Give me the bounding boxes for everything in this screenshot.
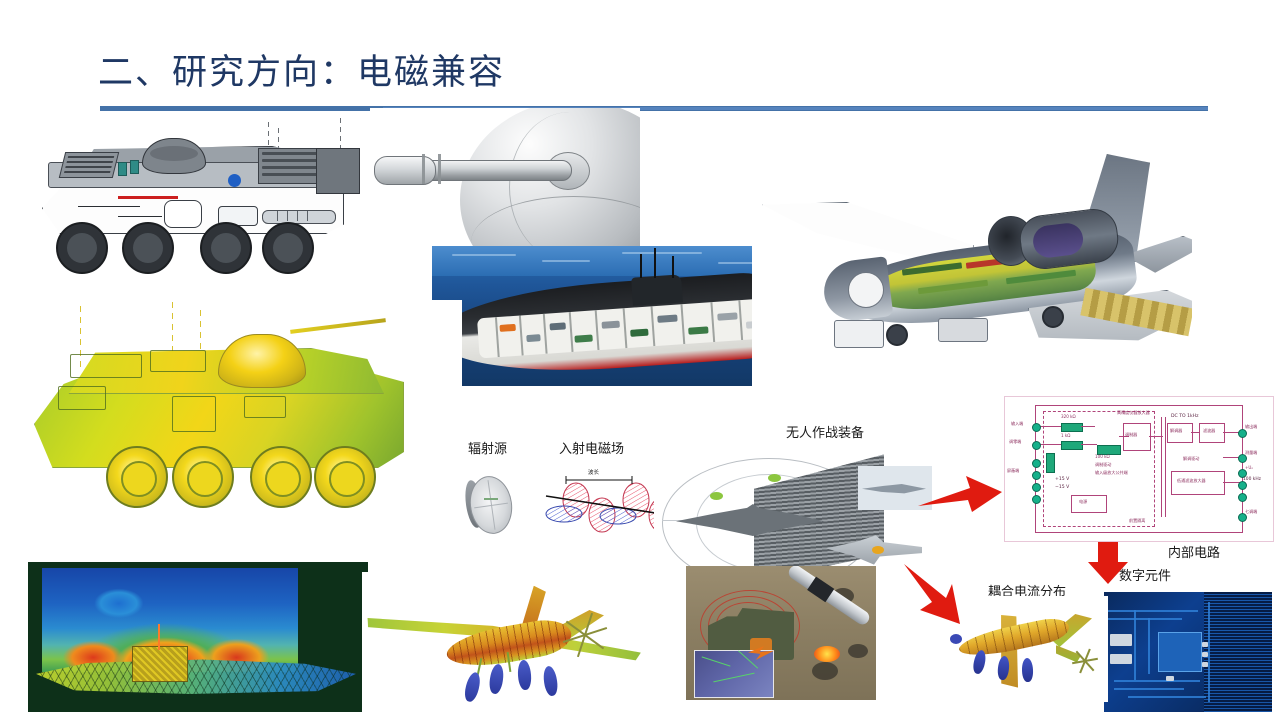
figure-uav-surface-current-simulation [362,572,652,720]
main-landing-gear [1042,306,1064,328]
hull-panel [70,354,142,378]
resistor-label-1k: 1 kΩ [1061,434,1070,439]
weapon-pod [517,660,532,691]
terminal-node [1032,441,1041,450]
vehicle-wheel [200,222,252,274]
muzzle [374,156,436,185]
label-radiation-source: 辐射源 [468,438,507,457]
block-label-filter: 滤波器 [1203,429,1215,434]
node-label-shield: 屏蔽端 [1007,469,1019,474]
radar-dish [848,272,884,308]
hull-panel [58,386,106,410]
figure-submarine-cutaway [432,246,806,386]
arrow-to-coupled-current [898,558,974,635]
amplifier-title: 高精度仪器放大器 [1117,411,1150,416]
uav-propeller [1072,648,1098,674]
marker-dot [710,492,723,500]
terminal-node [1238,493,1247,502]
exhaust-pipe [262,210,336,224]
resistor-label-100k: 100 kΩ [1095,455,1110,460]
nose-landing-gear [886,324,908,346]
label-unmanned-equipment: 无人作战装备 [786,422,864,441]
equipment-pod [938,318,988,342]
uav-nose-sensor [950,634,962,644]
map-inset [694,650,774,698]
figure-dish-antenna [464,472,520,538]
sub-label-isolation: 前置隔离 [1129,519,1145,524]
smoke-plume [848,644,868,658]
block-label-power: 电源 [1079,500,1087,505]
figure-pcb-photo [1104,592,1272,712]
supply-negative: −15 V [1055,485,1069,490]
node-label-uo: +Uₒ [1245,466,1253,471]
equipment-box [118,162,127,176]
target-object-mesh [132,646,188,682]
wheel-current [314,446,376,508]
block-power-supply [1071,495,1107,513]
turret-current-hotspot [218,334,306,388]
label-incident-field: 入射电磁场 [559,438,624,457]
block-label-lowpass: 低通滤波放大器 [1177,479,1206,484]
conning-tower [631,274,683,305]
sub-label-common: 输入级放大公共端 [1095,471,1128,476]
label-internal-circuit: 内部电路 [1168,542,1220,561]
vehicle-wheel [262,222,314,274]
transformer-core [1161,417,1162,517]
periscope-mast [672,256,674,278]
hull-panel [244,396,286,418]
supply-positive: +15 V [1055,477,1069,482]
dense-trace-region [1204,592,1272,712]
transformer-core [1165,417,1166,517]
solder-pad [1110,634,1132,646]
wheel-current [172,446,234,508]
barrel-band [422,154,425,184]
solder-pad [1202,652,1208,657]
terminal-node [1238,429,1247,438]
gain-resistor [1046,453,1055,473]
barrel-band [438,154,441,184]
hull-stripe [118,196,178,199]
missile-exhaust-flame [814,646,840,662]
gun-barrel [290,318,386,334]
marker-dot [768,474,781,482]
hull-line [118,216,162,217]
equipment-box [130,160,139,174]
uav-propeller [562,612,608,658]
terminal-node [1032,459,1041,468]
sub-label-demod-drive: 解调驱动 [1183,457,1199,462]
engine-grille [59,152,119,178]
figure-em-field-heatmap [28,562,368,712]
wire [1191,432,1199,433]
terminal-node [1032,471,1041,480]
weapon-pod [542,665,559,697]
weapon-pod [1022,658,1034,682]
integrated-circuit-chip [1158,632,1202,672]
vehicle-wheel [56,222,108,274]
node-label-seven: 七调端 [1245,510,1257,515]
side-hatch [172,396,216,432]
terminal-node [1032,483,1041,492]
slide-canvas: 二、研究方向：电磁兼容 [0,0,1280,720]
terminal-node [1032,423,1041,432]
wire [1081,444,1097,445]
periscope-mast [640,254,642,278]
node-label-measure: 测量端 [1245,451,1257,456]
block-label-demodulator: 解调器 [1170,429,1182,434]
dish-feed-horn [484,498,498,500]
frequency-note: 100 kHz [1243,477,1261,482]
hull-line [78,206,140,207]
wavelength-label: 波长 [588,468,599,476]
field-source-line [158,624,160,650]
figure-apc-surface-current-simulation [22,300,462,540]
sub-label-mod-drive: 调制驱动 [1095,463,1111,468]
periscope-mast [654,248,656,278]
arrow-to-internal-circuit [918,472,1004,525]
solder-pad [1202,662,1208,667]
stowage-rack [258,148,322,184]
terminal-node [1032,495,1041,504]
figure-armored-personnel-carrier-cad [22,118,374,283]
solder-pad [1166,676,1174,681]
solder-pad [1110,654,1132,664]
arrow-to-digital-component [1088,540,1132,591]
side-hatch [164,200,202,228]
figure-instrumentation-amplifier-schematic: 320 kΩ 1 kΩ 100 kΩ 高精度仪器放大器 DC TO 1kHz +… [1004,396,1274,542]
rear-armor-panel [316,148,360,194]
resistor-label-320k: 320 kΩ [1061,415,1076,420]
vehicle-turret [142,138,206,174]
water-surface [432,246,806,276]
wire [1081,426,1095,427]
smoke-plume [812,662,838,680]
vehicle-wheel [122,222,174,274]
sensor-dome [228,174,241,187]
hull-panel [150,350,206,372]
weapon-pod [488,663,505,695]
node-label-input: 输入端 [1011,422,1023,427]
wheel-current [250,446,312,508]
weapon-pod [463,671,483,703]
solder-pad [1202,642,1208,647]
band-label: DC TO 1kHz [1171,414,1199,419]
node-label-zero: 调零端 [1009,440,1021,445]
block-label-modulator: 调制器 [1125,433,1137,438]
figure-aircraft-cutaway [752,120,1192,400]
resistor-320k [1061,423,1083,432]
node-label-output: 输出端 [1245,425,1257,430]
equipment-pod [834,320,884,348]
terminal-node [1238,481,1247,490]
resistor-1k [1061,441,1083,450]
page-title: 二、研究方向：电磁兼容 [98,44,505,95]
figure-battlefield-strike-photo [686,566,876,700]
wheel-current [106,446,168,508]
figure-cannon-turret-cad [370,108,640,256]
